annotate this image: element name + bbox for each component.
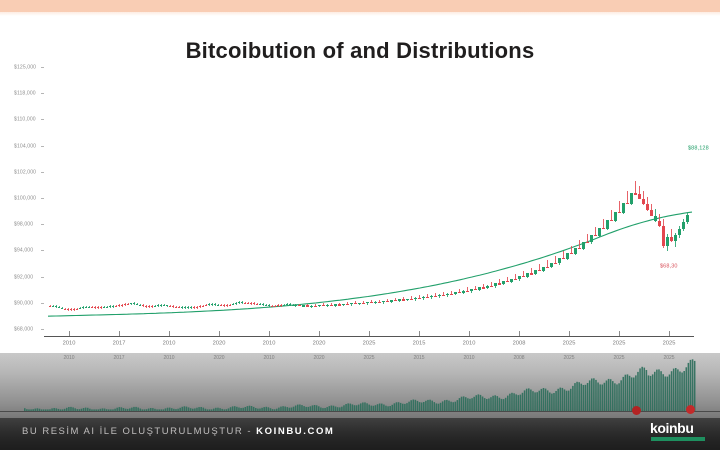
candle-body — [550, 263, 553, 268]
candle-body — [646, 204, 649, 210]
candle-body — [538, 270, 541, 271]
candle-body — [326, 305, 329, 306]
candle-body — [642, 199, 645, 204]
candle-body — [486, 286, 489, 289]
candle-body — [554, 263, 557, 264]
candle-body — [205, 305, 208, 306]
candle-body — [474, 289, 477, 290]
candle-body — [350, 303, 353, 304]
candle-body — [626, 203, 629, 204]
candle-body — [346, 304, 349, 305]
candle-body — [658, 221, 661, 226]
candle-body — [634, 193, 637, 194]
candle-body — [358, 303, 361, 304]
candle-body — [310, 306, 313, 307]
candle-body — [302, 305, 305, 306]
candle-body — [232, 304, 235, 305]
candle-body — [490, 286, 493, 287]
candle-body — [510, 279, 513, 282]
logo-dot-icon — [632, 406, 641, 415]
candle-body — [322, 305, 325, 306]
candle-body — [610, 220, 613, 221]
candle-body — [430, 296, 433, 298]
candle-body — [454, 292, 457, 294]
footer-disclaimer-prefix: BU RESİM AI İLE OLUŞTURULMUŞTUR - — [22, 426, 256, 437]
candle-body — [478, 287, 481, 290]
candle-body — [318, 305, 321, 306]
candle-body — [330, 305, 333, 306]
candle-body — [458, 292, 461, 293]
candle-body — [686, 215, 689, 222]
candle-body — [618, 212, 621, 213]
candle-body — [414, 298, 417, 300]
candle-body — [502, 281, 505, 284]
candle-body — [422, 297, 425, 299]
candle-body — [334, 304, 337, 305]
koinbu-logo[interactable]: koinbu — [650, 420, 693, 436]
logo-wordmark: koinbu — [650, 420, 693, 436]
candle-wick — [635, 181, 636, 195]
candle-body — [546, 267, 549, 268]
candle-body — [434, 296, 437, 297]
latest-volume-marker-icon — [686, 405, 695, 414]
candle-body — [354, 303, 357, 304]
candle-body — [526, 273, 529, 277]
candle-body — [462, 291, 465, 293]
candle-body — [562, 258, 565, 259]
candle-body — [566, 253, 569, 259]
candle-body — [418, 298, 421, 299]
candle-body — [534, 270, 537, 274]
candle-body — [654, 216, 657, 221]
candle-body — [406, 299, 409, 301]
candle-body — [662, 226, 665, 246]
candle-body — [590, 235, 593, 242]
candle-body — [602, 228, 605, 229]
candle-body — [314, 306, 317, 307]
candle-body — [530, 273, 533, 274]
candle-body — [506, 281, 509, 282]
candle-body — [630, 193, 633, 203]
volume-baseline — [0, 411, 720, 412]
candle-body — [426, 297, 429, 298]
candle-body — [390, 300, 393, 301]
top-accent-band — [0, 0, 720, 12]
candle-body — [666, 237, 669, 246]
candle-body — [638, 194, 641, 199]
candle-body — [470, 289, 473, 291]
candle-body — [366, 302, 369, 303]
candle-body — [338, 304, 341, 305]
footer-site-link[interactable]: KOINBU.COM — [256, 426, 334, 437]
candle-body — [598, 228, 601, 236]
candle-body — [292, 305, 295, 306]
price-annotation-label: $88,128 — [688, 145, 709, 151]
candle-body — [76, 309, 79, 310]
candle-body — [382, 301, 385, 302]
candle-body — [570, 253, 573, 254]
candle-body — [410, 299, 413, 300]
candle-body — [574, 248, 577, 254]
candle-body — [466, 291, 469, 292]
candle-body — [386, 301, 389, 302]
candle-body — [370, 302, 373, 303]
candle-body — [450, 294, 453, 295]
candle-body — [522, 276, 525, 277]
candle-body — [622, 203, 625, 213]
candle-body — [394, 300, 397, 301]
candle-body — [482, 287, 485, 288]
logo-underline — [651, 437, 705, 441]
candle-body — [514, 279, 517, 280]
candle-body — [650, 210, 653, 216]
candle-body — [674, 235, 677, 241]
candle-body — [542, 267, 545, 271]
candle-body — [442, 295, 445, 296]
candle-body — [614, 212, 617, 221]
candle-body — [402, 299, 405, 300]
candle-body — [498, 283, 501, 284]
candle-body — [582, 242, 585, 249]
candle-body — [682, 222, 685, 228]
candle-body — [446, 294, 449, 296]
candlestick-series — [0, 16, 720, 353]
candle-body — [678, 229, 681, 235]
candle-body — [586, 242, 589, 243]
candle-body — [518, 276, 521, 279]
candle-body — [362, 303, 365, 304]
candle-body — [606, 220, 609, 229]
candle-body — [494, 283, 497, 286]
candle-body — [594, 235, 597, 236]
candle-body — [378, 302, 381, 303]
candle-body — [578, 248, 581, 249]
candle-body — [670, 237, 673, 241]
candle-body — [374, 302, 377, 303]
candle-body — [438, 295, 441, 297]
price-annotation-label: $68,30 — [660, 263, 678, 269]
candle-body — [398, 299, 401, 300]
candle-body — [306, 305, 309, 306]
candle-body — [342, 304, 345, 305]
screenshot-root: Bitcoibution of and Distributions $125,0… — [0, 0, 720, 450]
footer-disclaimer: BU RESİM AI İLE OLUŞTURULMUŞTUR - KOINBU… — [22, 426, 334, 437]
candle-body — [298, 305, 301, 306]
candle-body — [558, 258, 561, 263]
